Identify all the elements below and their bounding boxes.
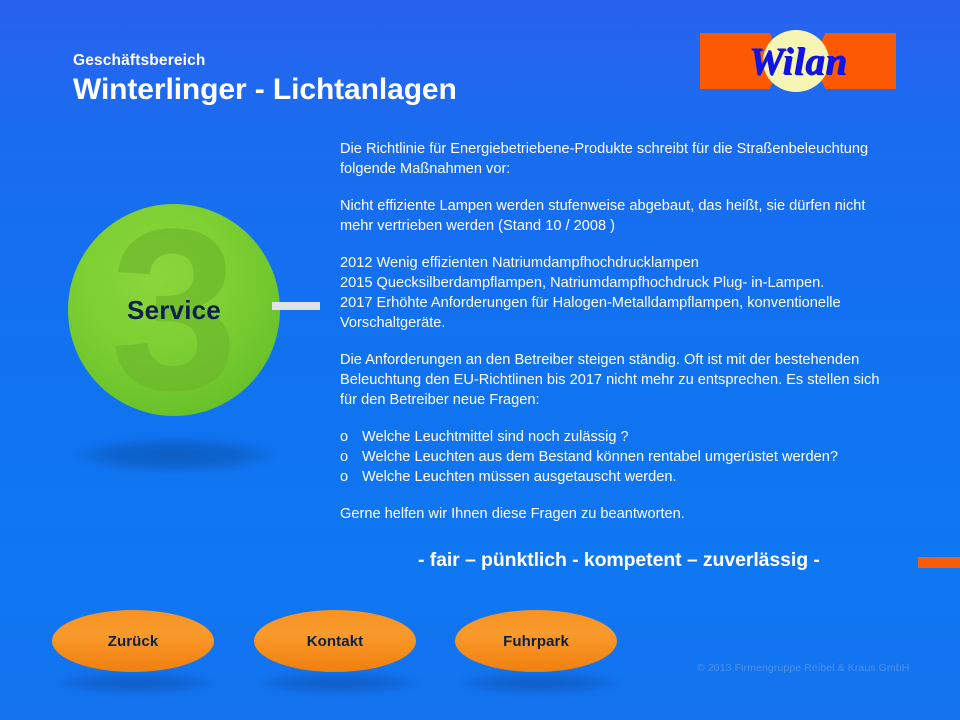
zurueck-button[interactable]: Zurück bbox=[52, 610, 214, 672]
fuhrpark-button[interactable]: Fuhrpark bbox=[455, 610, 617, 672]
paragraph-line: Beleuchtung den EU-Richtlinen bis 2017 n… bbox=[340, 370, 900, 390]
service-bubble-label: Service bbox=[68, 204, 280, 416]
paragraph-line: Vorschaltgeräte. bbox=[340, 313, 900, 333]
eyebrow-label: Geschäftsbereich bbox=[73, 52, 673, 69]
paragraph-line: für den Betreiber neue Fragen: bbox=[340, 390, 900, 410]
paragraph-anforderungen: Die Anforderungen an den Betreiber steig… bbox=[340, 350, 900, 410]
list-item-label: Welche Leuchten müssen ausgetauscht werd… bbox=[362, 467, 677, 487]
bullet-marker-icon: o bbox=[340, 467, 362, 487]
kontakt-button-shadow bbox=[258, 672, 418, 694]
paragraph-line: 2012 Wenig effizienten Natriumdampfhochd… bbox=[340, 253, 900, 273]
list-item-label: Welche Leuchtmittel sind noch zulässig ? bbox=[362, 427, 629, 447]
paragraph-line: Nicht effiziente Lampen werden stufenwei… bbox=[340, 196, 900, 216]
paragraph-closing: Gerne helfen wir Ihnen diese Fragen zu b… bbox=[340, 504, 900, 524]
paragraph-line: mehr vertrieben werden (Stand 10 / 2008 … bbox=[340, 216, 900, 236]
paragraph-lampen: Nicht effiziente Lampen werden stufenwei… bbox=[340, 196, 900, 236]
tagline: - fair – pünktlich - kompetent – zuverlä… bbox=[418, 549, 820, 572]
logo-wordmark: Wilan bbox=[700, 30, 896, 92]
copyright-notice: © 2013 Firmengruppe Reibel & Kraus GmbH bbox=[697, 662, 909, 674]
page-title: Winterlinger - Lichtanlagen bbox=[73, 71, 673, 109]
list-item: o Welche Leuchten aus dem Bestand können… bbox=[340, 447, 900, 467]
tagline-accent-bar bbox=[918, 557, 960, 568]
paragraph-line: 2015 Quecksilberdampflampen, Natriumdamp… bbox=[340, 273, 900, 293]
bullet-marker-icon: o bbox=[340, 447, 362, 467]
body-content: Die Richtlinie für Energiebetriebene-Pro… bbox=[340, 139, 900, 524]
kontakt-button[interactable]: Kontakt bbox=[254, 610, 416, 672]
paragraph-richtlinie: Die Richtlinie für Energiebetriebene-Pro… bbox=[340, 139, 900, 179]
zurueck-button-shadow bbox=[56, 672, 216, 694]
service-bubble[interactable]: 3 Service bbox=[68, 204, 280, 416]
slide-header: Geschäftsbereich Winterlinger - Lichtanl… bbox=[73, 52, 673, 109]
bullet-marker-icon: o bbox=[340, 427, 362, 447]
paragraph-line: Die Anforderungen an den Betreiber steig… bbox=[340, 350, 900, 370]
paragraph-line: Gerne helfen wir Ihnen diese Fragen zu b… bbox=[340, 504, 900, 524]
list-item: o Welche Leuchten müssen ausgetauscht we… bbox=[340, 467, 900, 487]
list-item-label: Welche Leuchten aus dem Bestand können r… bbox=[362, 447, 838, 467]
paragraph-line: Die Richtlinie für Energiebetriebene-Pro… bbox=[340, 139, 900, 159]
company-logo[interactable]: Wilan bbox=[700, 30, 896, 92]
service-bubble-shadow bbox=[70, 437, 280, 473]
bubble-connector-line bbox=[272, 302, 320, 310]
zurueck-button-label: Zurück bbox=[108, 633, 159, 650]
question-bullet-list: o Welche Leuchtmittel sind noch zulässig… bbox=[340, 427, 900, 487]
fuhrpark-button-label: Fuhrpark bbox=[503, 633, 569, 650]
paragraph-line: folgende Maßnahmen vor: bbox=[340, 159, 900, 179]
presentation-slide: Geschäftsbereich Winterlinger - Lichtanl… bbox=[0, 0, 960, 720]
paragraph-line: 2017 Erhöhte Anforderungen für Halogen-M… bbox=[340, 293, 900, 313]
list-item: o Welche Leuchtmittel sind noch zulässig… bbox=[340, 427, 900, 447]
paragraph-jahre: 2012 Wenig effizienten Natriumdampfhochd… bbox=[340, 253, 900, 333]
fuhrpark-button-shadow bbox=[459, 672, 619, 694]
kontakt-button-label: Kontakt bbox=[307, 633, 364, 650]
